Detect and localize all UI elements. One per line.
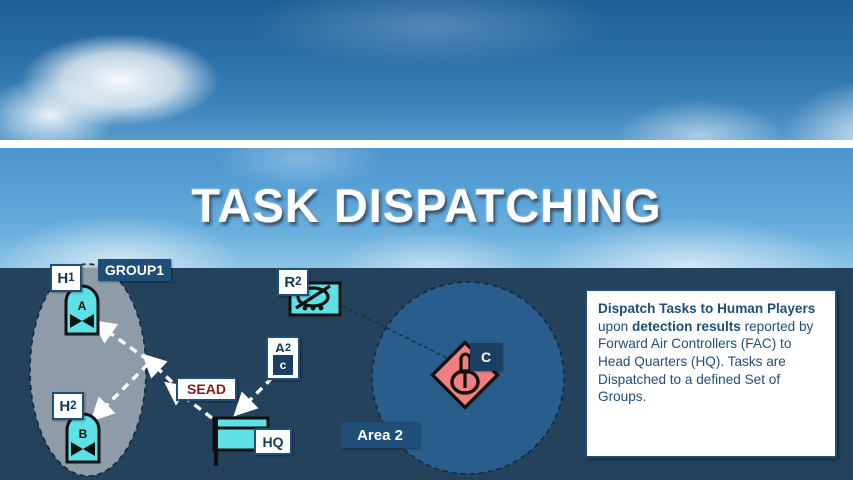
group1-label: GROUP1 bbox=[98, 259, 171, 281]
unit-label-h1: H1 bbox=[50, 264, 82, 292]
unit-label-h2: H2 bbox=[52, 392, 84, 420]
unit-a2-symbol-box: c bbox=[266, 352, 300, 380]
unit-label-hq: HQ bbox=[254, 428, 292, 455]
infobox-bold-2: detection results bbox=[632, 319, 741, 334]
task-label-sead: SEAD bbox=[176, 377, 237, 401]
group1-label-text: GROUP bbox=[105, 262, 156, 278]
infobox-bold-1: Dispatch Tasks to Human Players bbox=[598, 301, 815, 316]
unit-label-target-c: C bbox=[470, 343, 502, 371]
group1-label-suffix: 1 bbox=[156, 262, 164, 278]
unit-label-h2-text: H bbox=[59, 399, 70, 414]
dispatch-arrow-junction-to-fork bbox=[152, 363, 172, 382]
unit-label-h1-suffix: 1 bbox=[68, 272, 75, 284]
svg-text:B: B bbox=[79, 427, 88, 441]
unit-h2-symbol: B bbox=[67, 414, 99, 462]
unit-label-r2-suffix: 2 bbox=[295, 276, 302, 288]
unit-label-h1-text: H bbox=[57, 271, 68, 286]
unit-label-r2-text: R bbox=[284, 275, 295, 290]
unit-label-h2-suffix: 2 bbox=[70, 400, 77, 412]
area2-label-suffix: 2 bbox=[395, 427, 403, 444]
unit-h1-symbol: A bbox=[66, 286, 98, 334]
slide-canvas: TASK DISPATCHING A bbox=[0, 0, 853, 480]
svg-text:A: A bbox=[78, 299, 87, 313]
description-textbox: Dispatch Tasks to Human Players upon det… bbox=[585, 289, 837, 458]
area2-label: Area 2 bbox=[341, 422, 419, 448]
command-unit-icon: c bbox=[273, 355, 293, 375]
infobox-mid-1: upon bbox=[598, 319, 632, 334]
area2-label-text: Area bbox=[357, 427, 390, 444]
dispatch-arrow-a2-to-hq bbox=[243, 378, 272, 407]
unit-label-r2: R2 bbox=[277, 268, 309, 296]
